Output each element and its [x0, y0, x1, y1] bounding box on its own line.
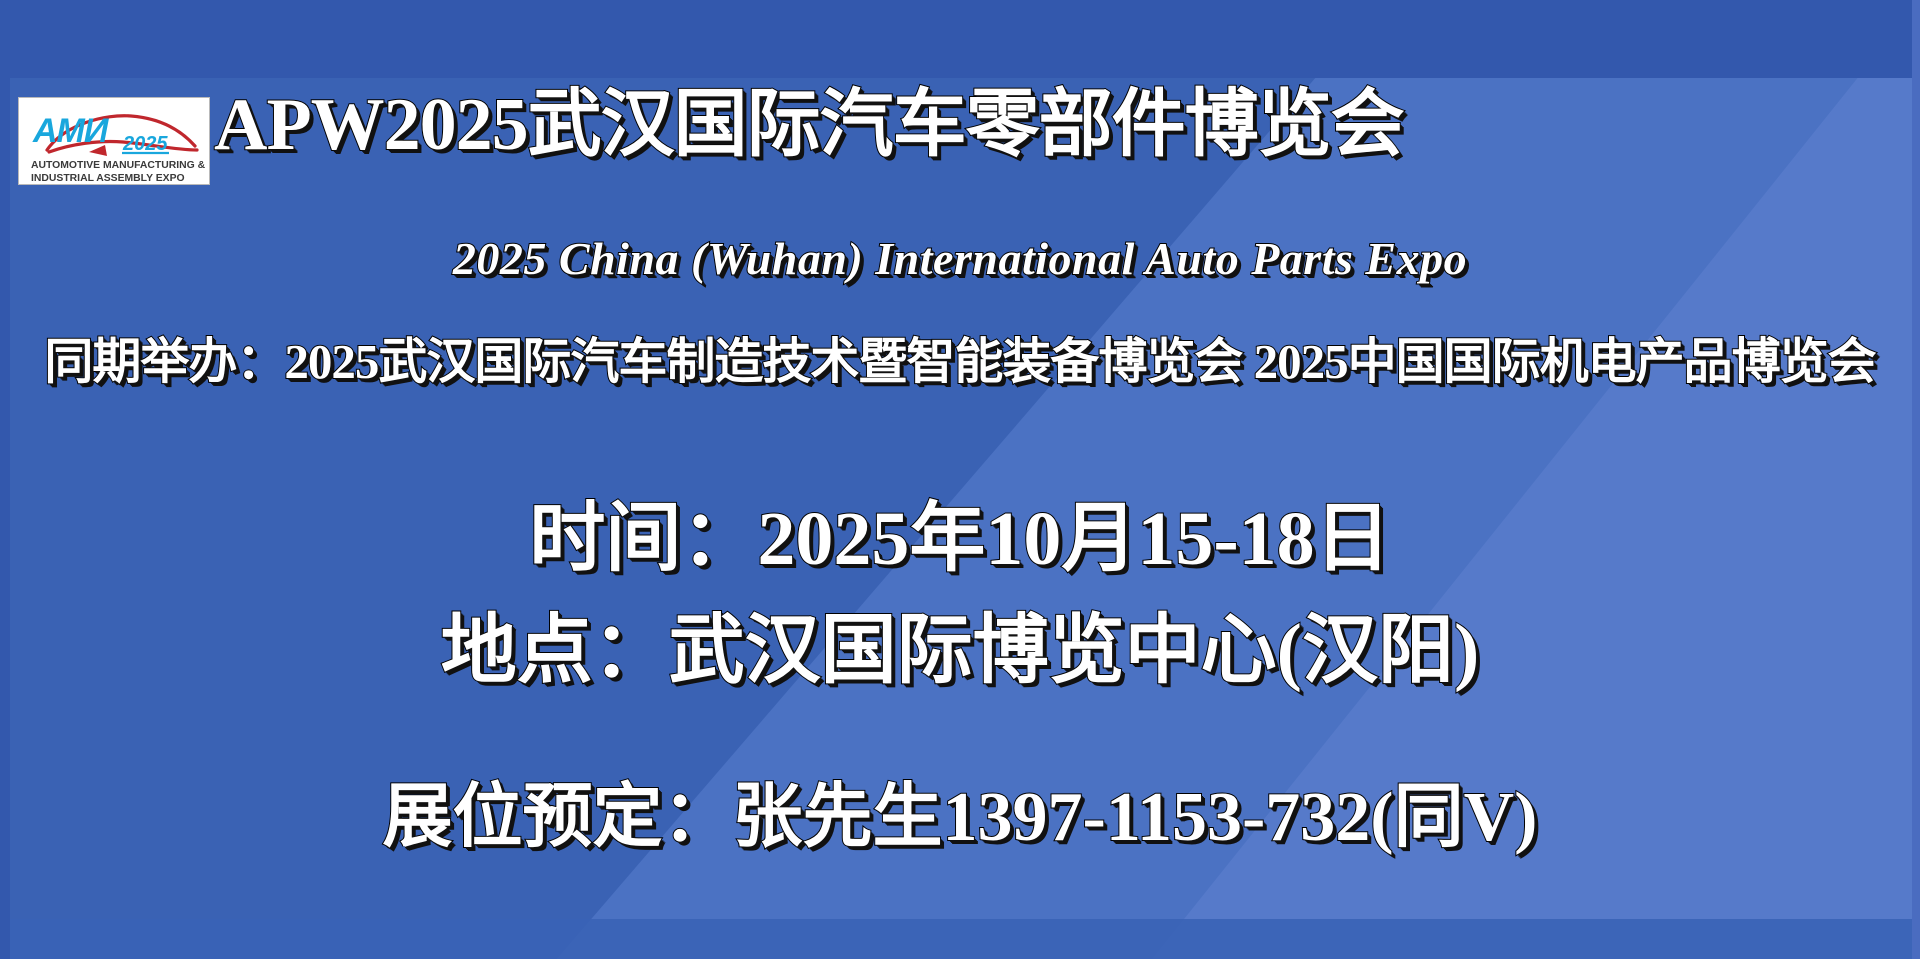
poster-canvas: AMИ 2025 AUTOMOTIVE MANUFACTURING & INDU… [0, 0, 1920, 959]
svg-text:AMИ: AMИ [32, 112, 110, 150]
expo-logo-graphic: AMИ 2025 AUTOMOTIVE MANUFACTURING & INDU… [19, 98, 210, 185]
headline-title-cn: APW2025武汉国际汽车零部件博览会 [214, 88, 1404, 162]
logo-caption-line2: INDUSTRIAL ASSEMBLY EXPO [31, 173, 185, 184]
logo-caption-line1: AUTOMOTIVE MANUFACTURING & [31, 160, 206, 171]
headline-title-en: 2025 China (Wuhan) International Auto Pa… [0, 232, 1920, 285]
event-date-line: 时间：2025年10月15-18日 [0, 476, 1920, 586]
svg-text:2025: 2025 [122, 133, 168, 155]
event-venue-line: 地点：武汉国际博览中心(汉阳) [0, 588, 1920, 698]
background-bottom-band [0, 919, 1920, 959]
expo-logo: AMИ 2025 AUTOMOTIVE MANUFACTURING & INDU… [18, 97, 210, 185]
booth-booking-line: 展位预定：张先生1397-1153-732(同V) [0, 760, 1920, 861]
background-top-band [0, 0, 1920, 78]
concurrent-events-line: 同期举办：2025武汉国际汽车制造技术暨智能装备博览会 2025中国国际机电产品… [0, 322, 1920, 393]
